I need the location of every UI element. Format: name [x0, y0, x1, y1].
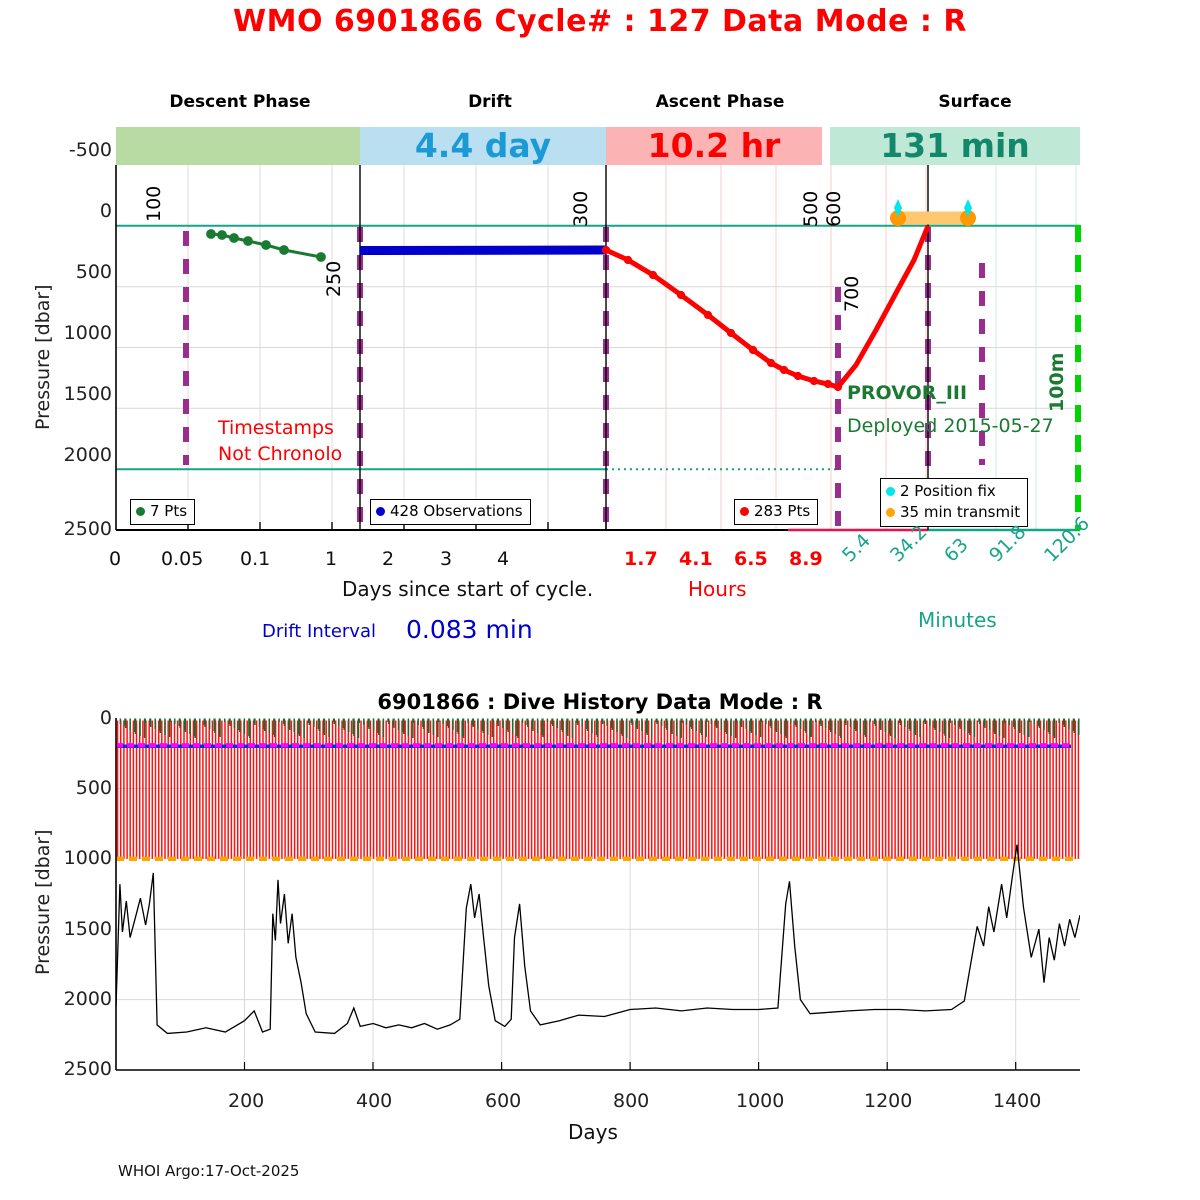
park-label-600: 600	[823, 191, 845, 227]
x-axis-label-minutes: Minutes	[918, 608, 997, 632]
surface-series	[890, 199, 976, 226]
y-tick-bottom: 1500	[36, 918, 112, 940]
legend-surface: 2 Position fix 35 min transmit	[880, 478, 1028, 527]
x-tick-days: 4	[497, 548, 509, 570]
x-tick-days: 3	[440, 548, 452, 570]
surface-label-100m: 100m	[1046, 353, 1068, 412]
phase-band-descent	[116, 127, 360, 165]
phase-band-surface: 131 min	[830, 127, 1080, 165]
x-tick-hours: 1.7	[624, 548, 658, 570]
legend-position-fix: 2 Position fix	[886, 481, 1020, 502]
drift-series	[360, 250, 606, 251]
legend-descent: 7 Pts	[130, 499, 195, 525]
dive-history-title: 6901866 : Dive History Data Mode : R	[0, 690, 1200, 714]
footer-text: WHOI Argo:17-Oct-2025	[118, 1162, 299, 1180]
park-label-100: 100	[143, 186, 165, 222]
phase-band-drift: 4.4 day	[360, 127, 606, 165]
park-marker-lines	[186, 227, 982, 530]
x-tick-bottom: 400	[356, 1090, 392, 1112]
park-label-700: 700	[841, 276, 863, 312]
x-tick-bottom: 1200	[864, 1090, 912, 1112]
x-tick-days: 0.1	[240, 548, 270, 570]
transmit-legend-icon	[886, 508, 895, 517]
x-axis-label-hours: Hours	[688, 577, 747, 601]
ascent-series	[602, 226, 928, 391]
x-tick-hours: 4.1	[679, 548, 713, 570]
legend-position-fix-label: 2 Position fix	[900, 482, 996, 500]
legend-drift: 428 Observations	[370, 499, 531, 525]
y-tick: 2000	[36, 444, 112, 466]
page-title: WMO 6901866 Cycle# : 127 Data Mode : R	[0, 4, 1200, 39]
legend-drift-label: 428 Observations	[390, 502, 523, 520]
x-tick-minutes: 5.4	[838, 530, 875, 567]
x-tick-bottom: 800	[613, 1090, 649, 1112]
y-tick: -500	[36, 139, 112, 161]
x-tick-minutes: 63	[940, 534, 973, 567]
y-tick: 1500	[36, 383, 112, 405]
x-tick-hours: 6.5	[734, 548, 768, 570]
y-tick-bottom: 500	[36, 777, 112, 799]
drift-interval-value: 0.083 min	[406, 615, 533, 644]
x-tick-bottom: 1400	[993, 1090, 1041, 1112]
x-axis-label-bottom: Days	[568, 1120, 618, 1144]
legend-transmit: 35 min transmit	[886, 502, 1020, 523]
x-tick-bottom: 200	[228, 1090, 264, 1112]
float-type-label: PROVOR_III	[847, 382, 967, 404]
position-fix-legend-icon	[886, 487, 895, 496]
cycle-timeline-plot	[116, 165, 1080, 530]
max-pressure-trace	[116, 845, 1080, 1034]
legend-descent-label: 7 Pts	[150, 502, 187, 520]
legend-ascent-label: 283 Pts	[754, 502, 810, 520]
legend-ascent: 283 Pts	[734, 499, 818, 525]
descent-series	[208, 231, 325, 261]
park-pressure-trace	[116, 745, 1071, 746]
y-tick-bottom: 1000	[36, 847, 112, 869]
deployed-date-label: Deployed 2015-05-27	[847, 415, 1054, 437]
timestamp-warning-line1: Timestamps	[218, 415, 342, 441]
phase-header-drift: Drift	[385, 92, 595, 112]
y-tick: 1000	[36, 322, 112, 344]
park-label-250: 250	[323, 261, 345, 297]
x-tick-days: 0.05	[161, 548, 203, 570]
legend-transmit-label: 35 min transmit	[900, 503, 1020, 521]
phase-header-ascent: Ascent Phase	[615, 92, 825, 112]
y-tick: 2500	[36, 518, 112, 540]
park-label-500: 500	[800, 191, 822, 227]
drift-interval-label: Drift Interval	[262, 621, 376, 642]
timestamp-warning-line2: Not Chronolo	[218, 441, 342, 467]
x-tick-days: 2	[382, 548, 394, 570]
phase-header-surface: Surface	[880, 92, 1070, 112]
y-tick-bottom: 0	[36, 707, 112, 729]
y-tick: 500	[36, 261, 112, 283]
park-label-300: 300	[570, 191, 592, 227]
descent-legend-icon	[136, 507, 145, 516]
x-axis-label-days: Days since start of cycle.	[342, 577, 593, 601]
ascent-legend-icon	[740, 507, 749, 516]
x-tick-days: 0	[109, 548, 121, 570]
phase-header-descent: Descent Phase	[150, 92, 330, 112]
x-tick-hours: 8.9	[789, 548, 823, 570]
drift-legend-icon	[376, 507, 385, 516]
phase-band-ascent: 10.2 hr	[606, 127, 822, 165]
top-y-axis-label: Pressure [dbar]	[32, 284, 54, 430]
dive-history-plot	[116, 718, 1080, 1070]
y-tick: 0	[36, 200, 112, 222]
x-axis-ticks-bottom	[245, 1062, 1016, 1070]
timestamp-warning: Timestamps Not Chronolo	[218, 415, 342, 467]
y-tick-bottom: 2500	[36, 1058, 112, 1080]
y-tick-bottom: 2000	[36, 988, 112, 1010]
x-tick-days: 1	[325, 548, 337, 570]
x-tick-bottom: 600	[485, 1090, 521, 1112]
x-tick-bottom: 1000	[736, 1090, 784, 1112]
